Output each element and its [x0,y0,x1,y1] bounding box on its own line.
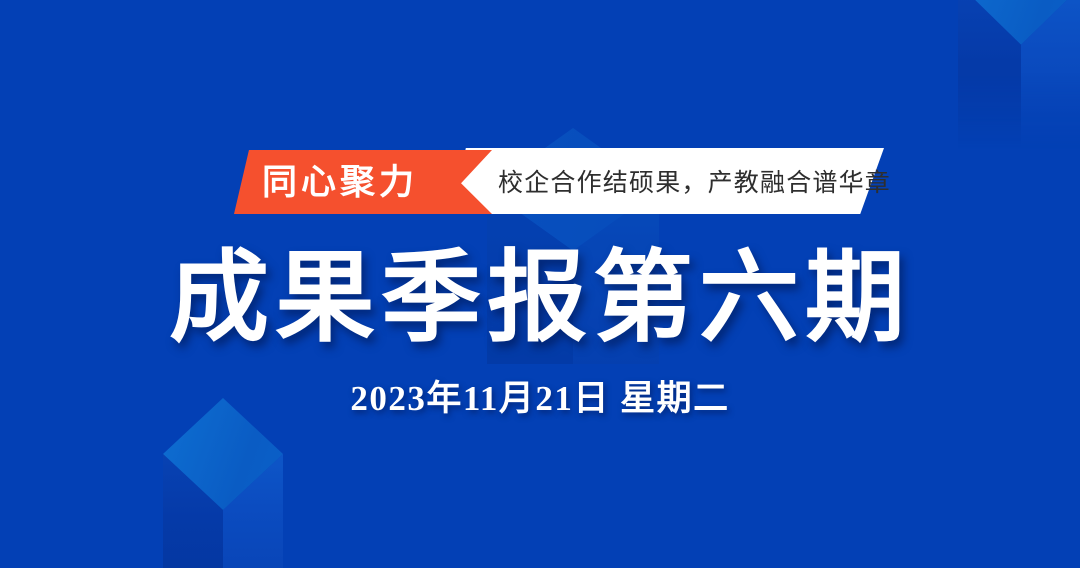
cube-right-face [163,398,283,568]
ribbon-tag-label: 同心聚力 [262,165,418,200]
cube-left-face [163,398,283,568]
page-title: 成果季报第六期 [0,247,1080,351]
cube-top-face [958,0,1080,158]
cube-top-face [163,398,283,568]
ribbon-banner: 校企合作结硕果，产教融合谱华章 同心聚力 [234,148,884,216]
ribbon-subtitle: 校企合作结硕果，产教融合谱华章 [498,148,891,214]
cube-right-face [958,0,1080,158]
dateline: 2023年11月21日 星期二 [0,370,1080,421]
ribbon-orange-tag: 同心聚力 [234,150,492,214]
poster-banner: 校企合作结硕果，产教融合谱华章 同心聚力 成果季报第六期 2023年11月21日… [0,0,1080,568]
cube-top-right-icon [958,0,1080,158]
cube-left-face [958,0,1080,158]
cube-bottom-left-icon [163,398,283,568]
